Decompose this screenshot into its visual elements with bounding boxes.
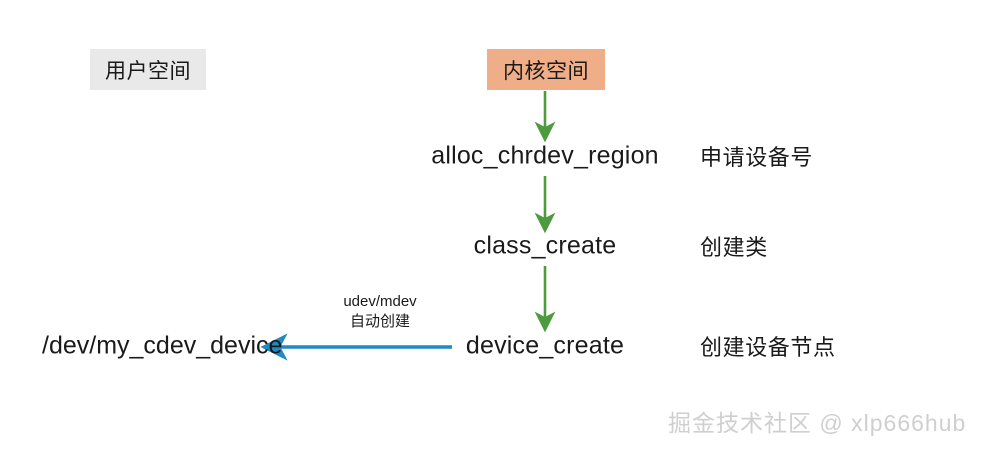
step-alloc-chrdev-region-function: alloc_chrdev_region — [431, 142, 659, 171]
device-node-path: /dev/my_cdev_device — [42, 332, 282, 361]
kernel-space-label: 内核空间 — [487, 49, 605, 90]
diagram-canvas: 用户空间 内核空间 alloc_chrdev_region 申请设备号 clas… — [0, 0, 998, 451]
step-device-create-function: device_create — [466, 332, 624, 361]
step-class-create-description: 创建类 — [700, 230, 768, 262]
kernel-space-text: 内核空间 — [503, 55, 589, 85]
step-device-create-description: 创建设备节点 — [700, 330, 836, 362]
udev-annotation-line1: udev/mdev — [310, 292, 450, 312]
user-space-label: 用户空间 — [90, 49, 206, 90]
udev-annotation-line2: 自动创建 — [310, 312, 450, 332]
step-class-create-function: class_create — [474, 232, 617, 261]
user-space-text: 用户空间 — [105, 55, 191, 85]
step-alloc-chrdev-region-description: 申请设备号 — [700, 140, 813, 172]
udev-annotation: udev/mdev 自动创建 — [310, 292, 450, 333]
watermark: 掘金技术社区 @ xlp666hub — [668, 404, 966, 438]
